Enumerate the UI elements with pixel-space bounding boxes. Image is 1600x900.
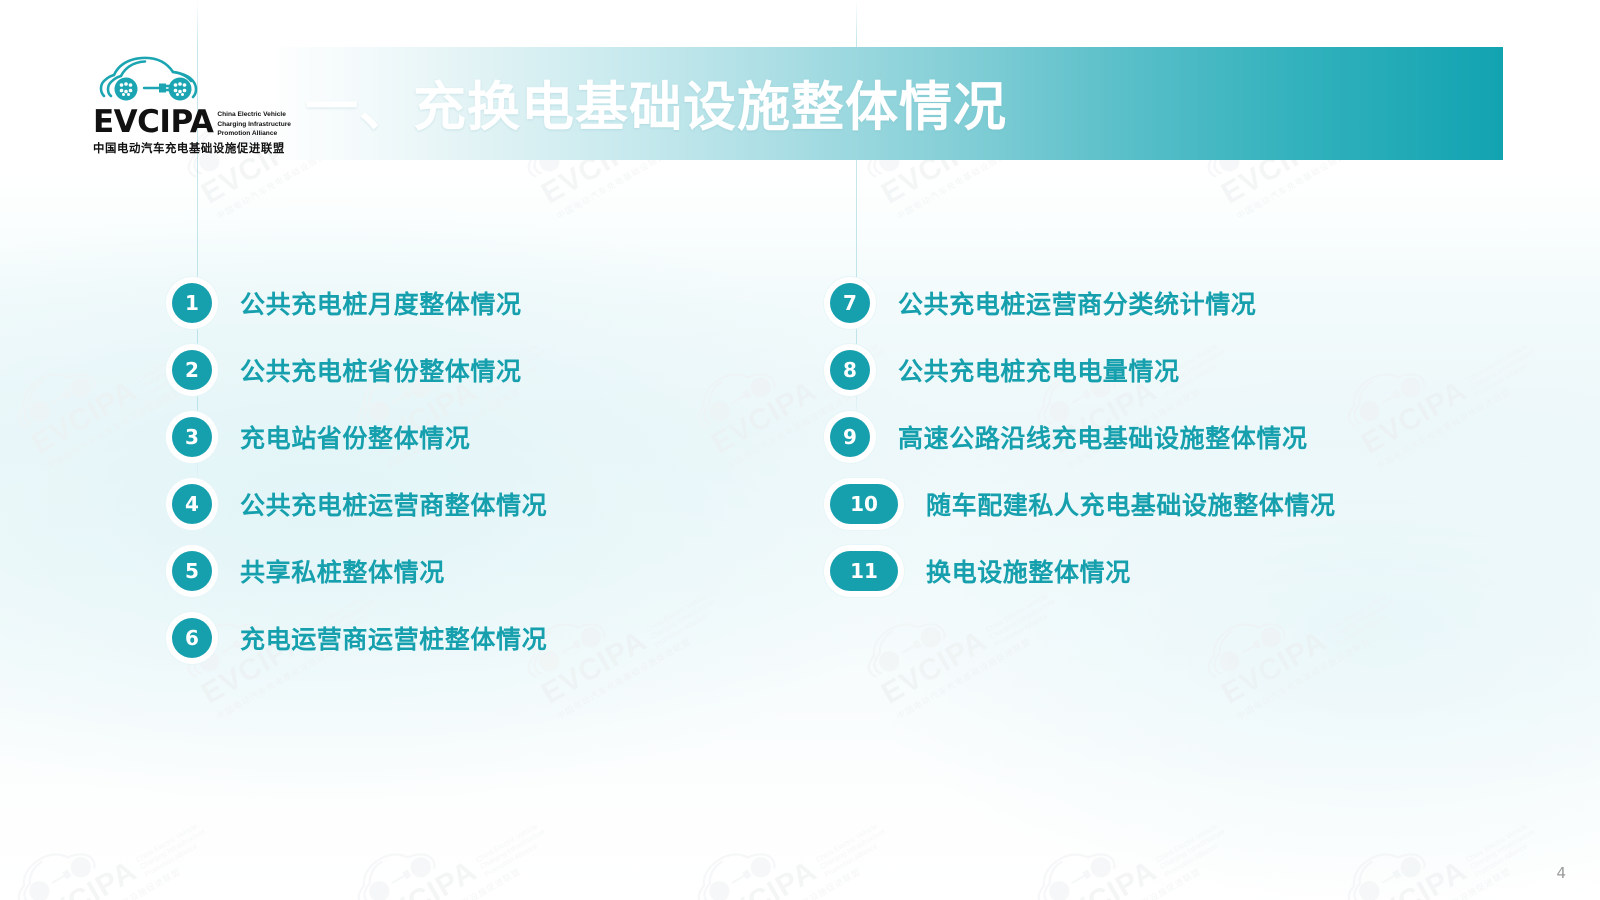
contents-item-label: 公共充电桩充电电量情况 (898, 352, 1180, 388)
page-number: 4 (1556, 864, 1566, 882)
contents-column-left: 1公共充电桩月度整体情况2公共充电桩省份整体情况3充电站省份整体情况4公共充电桩… (172, 278, 547, 663)
contents-item[interactable]: 6充电运营商运营桩整体情况 (172, 613, 547, 663)
logo-wordmark: EVCIPA (93, 108, 213, 137)
contents-item[interactable]: 5共享私桩整体情况 (172, 546, 547, 596)
contents-item-label: 充电站省份整体情况 (240, 419, 470, 455)
logo-english-line-1: China Electric Vehicle (217, 111, 286, 118)
car-charging-icon (97, 52, 205, 109)
contents-item-label: 共享私桩整体情况 (240, 553, 445, 589)
contents-item-number-badge: 11 (830, 551, 898, 591)
contents-item-number-badge: 6 (172, 618, 212, 658)
logo-wordmark-row: EVCIPA China Electric Vehicle Charging I… (93, 108, 291, 139)
contents-item-number-badge: 4 (172, 484, 212, 524)
contents-item-number-badge: 7 (830, 283, 870, 323)
slide-canvas: EVCIPAChina Electric VehicleCharging Inf… (0, 0, 1600, 900)
contents-column-right: 7公共充电桩运营商分类统计情况8公共充电桩充电电量情况9高速公路沿线充电基础设施… (830, 278, 1336, 596)
contents-item-number-badge: 2 (172, 350, 212, 390)
contents-item[interactable]: 8公共充电桩充电电量情况 (830, 345, 1336, 395)
contents-item[interactable]: 2公共充电桩省份整体情况 (172, 345, 547, 395)
logo-chinese-name: 中国电动汽车充电基础设施促进联盟 (93, 140, 285, 156)
page-title: 一、充换电基础设施整体情况 (305, 68, 1007, 138)
contents-item-label: 随车配建私人充电基础设施整体情况 (926, 486, 1336, 522)
contents-item-label: 公共充电桩运营商整体情况 (240, 486, 547, 522)
logo-english-line-3: Promotion Alliance (217, 130, 277, 137)
contents-item-number-badge: 5 (172, 551, 212, 591)
contents-item-number-badge: 9 (830, 417, 870, 457)
contents-item-label: 充电运营商运营桩整体情况 (240, 620, 547, 656)
contents-item-number-badge: 8 (830, 350, 870, 390)
contents-item[interactable]: 10随车配建私人充电基础设施整体情况 (830, 479, 1336, 529)
contents-item[interactable]: 1公共充电桩月度整体情况 (172, 278, 547, 328)
evcipa-logo: EVCIPA China Electric Vehicle Charging I… (93, 52, 268, 157)
contents-item[interactable]: 3充电站省份整体情况 (172, 412, 547, 462)
contents-item[interactable]: 7公共充电桩运营商分类统计情况 (830, 278, 1336, 328)
contents-item[interactable]: 11换电设施整体情况 (830, 546, 1336, 596)
contents-item[interactable]: 4公共充电桩运营商整体情况 (172, 479, 547, 529)
contents-item-label: 公共充电桩运营商分类统计情况 (898, 285, 1256, 321)
contents-item-label: 公共充电桩月度整体情况 (240, 285, 522, 321)
contents-item-number-badge: 10 (830, 484, 898, 524)
logo-english-name: China Electric Vehicle Charging Infrastr… (217, 110, 291, 139)
contents-item-number-badge: 1 (172, 283, 212, 323)
contents-item-label: 换电设施整体情况 (926, 553, 1131, 589)
contents-item-number-badge: 3 (172, 417, 212, 457)
contents-item-label: 高速公路沿线充电基础设施整体情况 (898, 419, 1308, 455)
contents-item-label: 公共充电桩省份整体情况 (240, 352, 522, 388)
contents-item[interactable]: 9高速公路沿线充电基础设施整体情况 (830, 412, 1336, 462)
logo-english-line-2: Charging Infrastructure (217, 121, 291, 128)
